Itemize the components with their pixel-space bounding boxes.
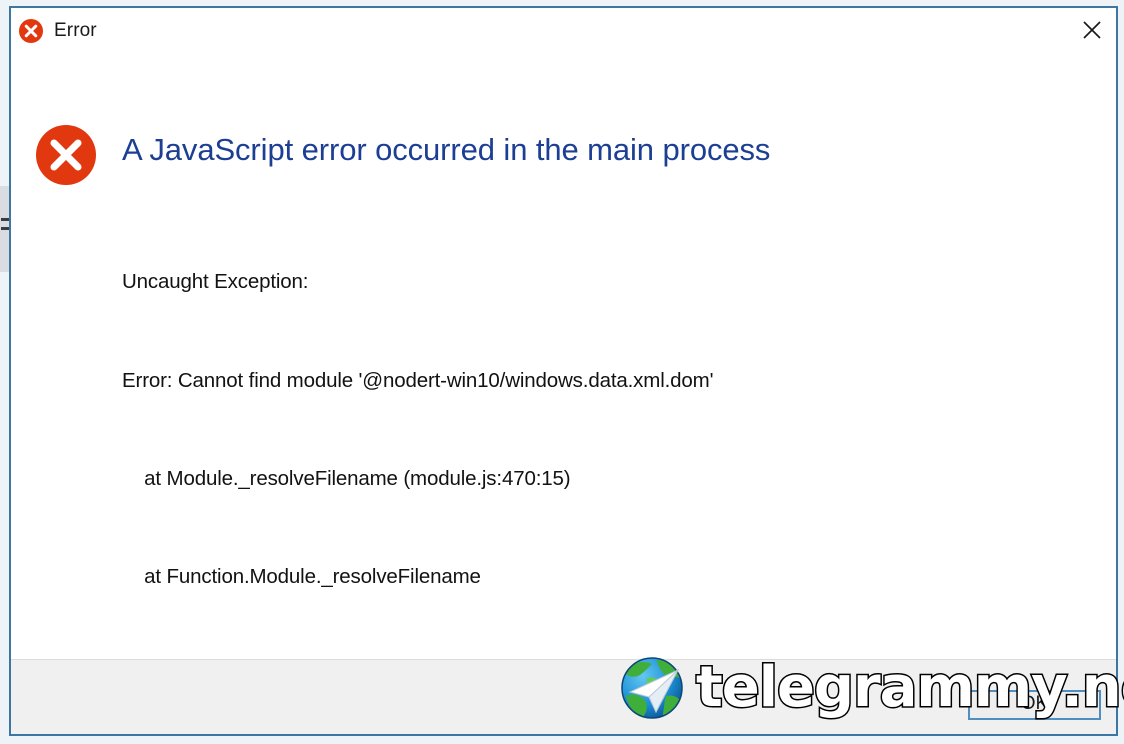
ok-button[interactable]: OK (968, 690, 1101, 720)
stack-line: Error: Cannot find module '@nodert-win10… (122, 365, 1110, 398)
page-title: A JavaScript error occurred in the main … (122, 132, 770, 168)
dialog-body: A JavaScript error occurred in the main … (11, 54, 1116, 659)
error-dialog-window: Error A JavaScript error occurred in the… (9, 6, 1118, 736)
close-icon (1081, 19, 1103, 41)
error-circle-icon (35, 124, 97, 186)
dialog-footer: OK (11, 659, 1116, 734)
stack-line: at Function.Module._resolveFilename (122, 561, 1110, 594)
stack-trace: Uncaught Exception: Error: Cannot find m… (122, 201, 1110, 659)
window-title: Error (54, 20, 97, 42)
close-button[interactable] (1068, 8, 1116, 52)
stack-line: at Module._resolveFilename (module.js:47… (122, 463, 1110, 496)
error-circle-icon (18, 18, 44, 44)
stack-line: Uncaught Exception: (122, 266, 1110, 299)
title-bar[interactable]: Error (11, 8, 1116, 54)
